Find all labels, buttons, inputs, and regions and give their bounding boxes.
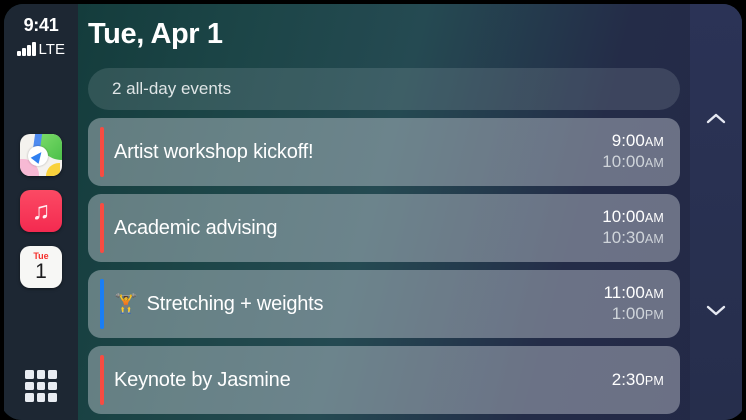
carrier-label: LTE — [39, 43, 65, 56]
event-title: Artist workshop kickoff! — [114, 141, 313, 164]
event-row[interactable]: Academic advising 10:00AM 10:30AM — [88, 194, 680, 262]
event-end-value: 10:30 — [602, 228, 645, 247]
event-row[interactable]: 🏋️ Stretching + weights 11:00AM 1:00PM — [88, 270, 680, 338]
chevron-down-icon[interactable] — [705, 300, 727, 322]
event-end-period: AM — [645, 232, 664, 246]
event-accent-bar — [100, 127, 104, 177]
sidebar-app-dock: ♫ Tue 1 — [4, 134, 78, 288]
event-start-value: 9:00 — [612, 131, 645, 150]
music-note-icon: ♫ — [32, 199, 51, 224]
scroll-rail — [690, 4, 742, 420]
event-end-period: PM — [645, 308, 664, 322]
sidebar: 9:41 LTE ♫ — [4, 4, 78, 420]
cellular-signal-icon — [17, 42, 36, 56]
calendar-app-icon[interactable]: Tue 1 — [20, 246, 62, 288]
page-title: Tue, Apr 1 — [88, 18, 223, 51]
event-start-time: 10:00AM — [602, 207, 664, 228]
event-end-time: 10:00AM — [602, 152, 664, 173]
event-start-value: 10:00 — [602, 207, 645, 226]
event-times: 2:30PM — [612, 370, 664, 391]
event-start-time: 9:00AM — [602, 131, 664, 152]
event-start-period: AM — [645, 135, 664, 149]
event-start-period: AM — [645, 211, 664, 225]
app-grid-icon[interactable] — [25, 370, 57, 402]
event-main: Artist workshop kickoff! — [114, 141, 602, 164]
event-row[interactable]: Artist workshop kickoff! 9:00AM 10:00AM — [88, 118, 680, 186]
maps-navigation-arrow-icon — [28, 146, 48, 166]
weightlifter-icon: 🏋️ — [114, 295, 138, 314]
main-content: Tue, Apr 1 2 all-day events Artist works… — [78, 4, 742, 420]
event-accent-bar — [100, 279, 104, 329]
event-times: 9:00AM 10:00AM — [602, 131, 664, 172]
event-end-value: 1:00 — [612, 304, 645, 323]
event-main: Keynote by Jasmine — [114, 369, 612, 392]
event-times: 11:00AM 1:00PM — [604, 283, 664, 324]
event-start-value: 2:30 — [612, 370, 645, 389]
event-title: Academic advising — [114, 217, 277, 240]
event-start-value: 11:00 — [604, 283, 645, 302]
event-end-value: 10:00 — [602, 152, 645, 171]
event-end-period: AM — [645, 156, 664, 170]
event-accent-bar — [100, 203, 104, 253]
chevron-up-icon[interactable] — [705, 107, 727, 129]
event-main: Academic advising — [114, 217, 602, 240]
maps-yellow-shape — [46, 163, 60, 176]
event-main: 🏋️ Stretching + weights — [114, 293, 604, 316]
maps-app-icon[interactable] — [20, 134, 62, 176]
event-title: Keynote by Jasmine — [114, 369, 291, 392]
event-end-time: 10:30AM — [602, 228, 664, 249]
status-clock: 9:41 — [4, 16, 78, 34]
event-end-time: 1:00PM — [604, 304, 664, 325]
status-signal-group: LTE — [4, 42, 78, 56]
carplay-screen: 9:41 LTE ♫ — [0, 0, 746, 420]
status-bar: 9:41 LTE — [4, 4, 78, 56]
screen-inner: 9:41 LTE ♫ — [4, 4, 742, 420]
event-start-period: AM — [645, 287, 664, 301]
event-times: 10:00AM 10:30AM — [602, 207, 664, 248]
event-start-time: 2:30PM — [612, 370, 664, 391]
event-row[interactable]: Keynote by Jasmine 2:30PM — [88, 346, 680, 414]
all-day-events-label: 2 all-day events — [112, 79, 231, 99]
event-title: Stretching + weights — [147, 293, 324, 316]
event-list: 2 all-day events Artist workshop kickoff… — [88, 68, 680, 420]
event-start-period: PM — [645, 374, 664, 388]
all-day-events-row[interactable]: 2 all-day events — [88, 68, 680, 110]
calendar-icon-day: 1 — [35, 261, 47, 283]
event-accent-bar — [100, 355, 104, 405]
event-start-time: 11:00AM — [604, 283, 664, 304]
music-app-icon[interactable]: ♫ — [20, 190, 62, 232]
